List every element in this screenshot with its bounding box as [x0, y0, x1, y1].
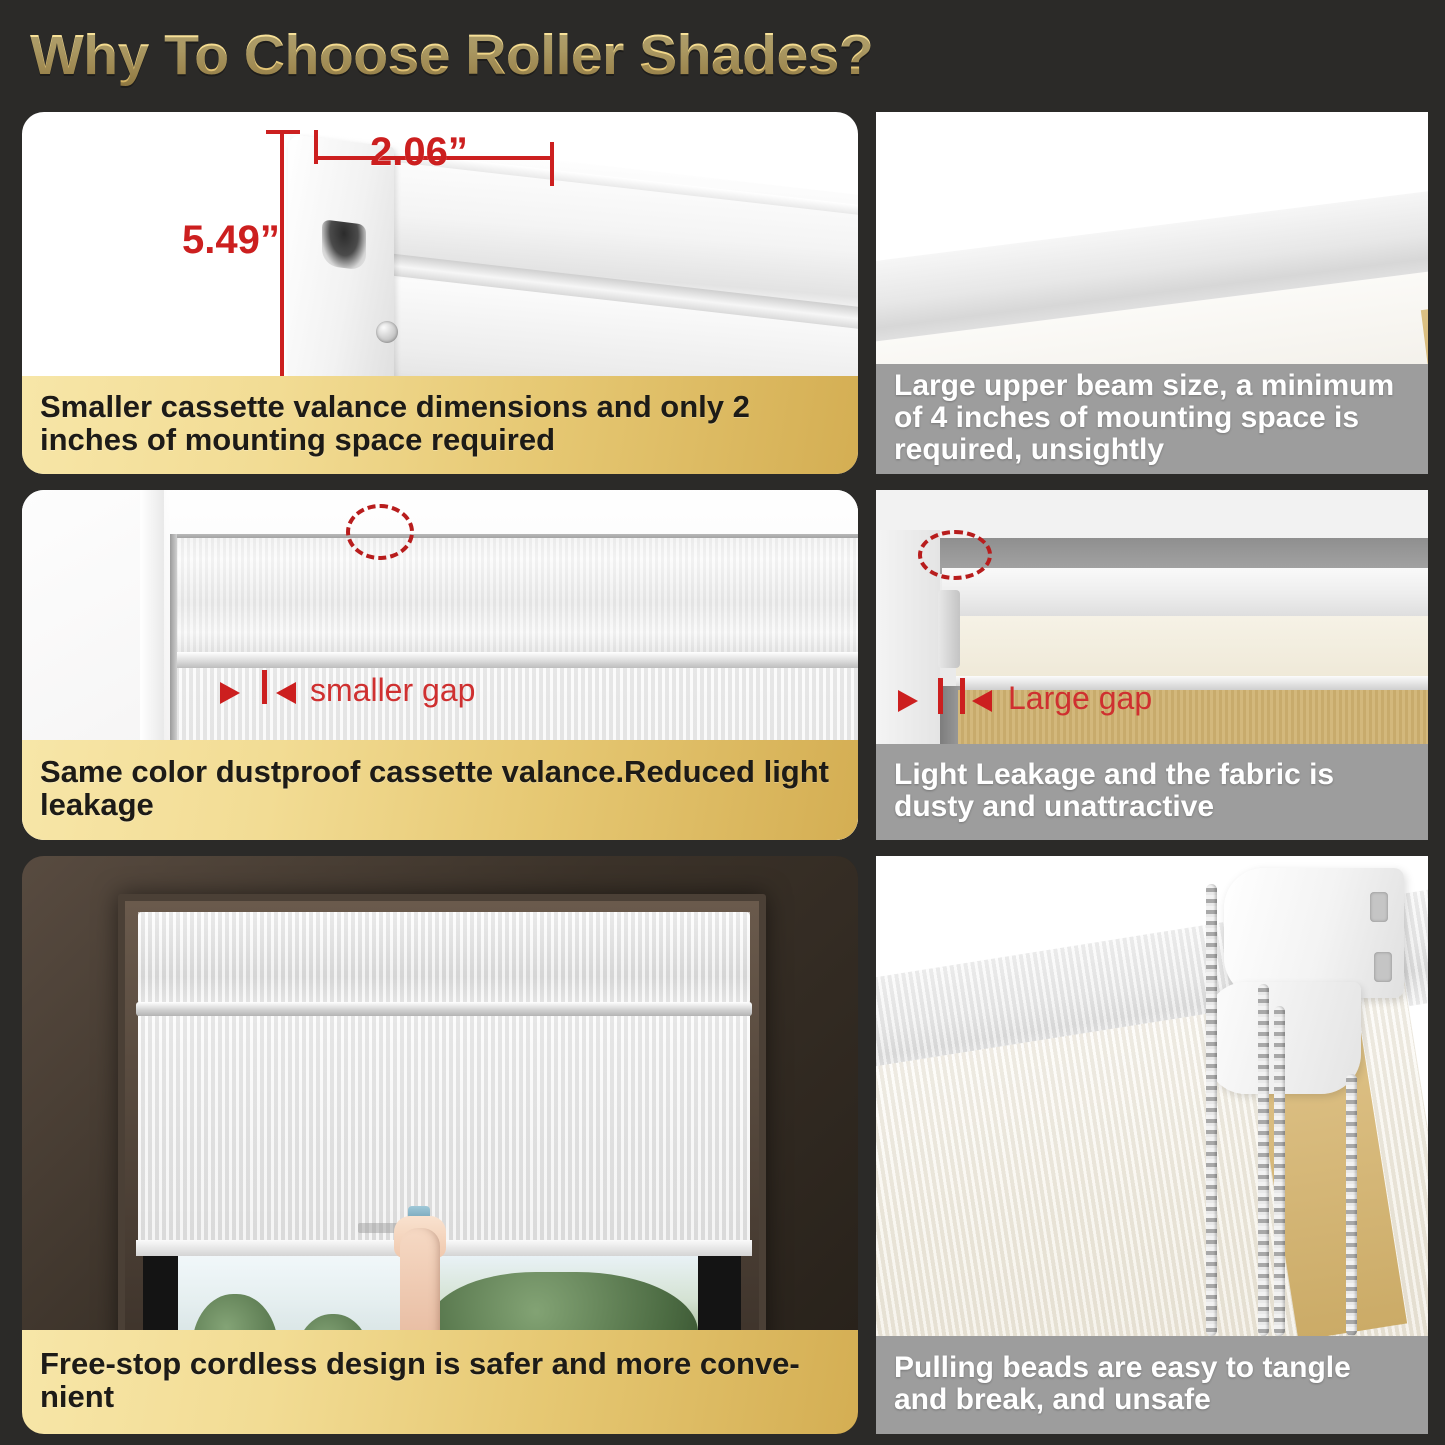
bead-chain-left — [1206, 884, 1217, 1336]
bracket-notch-lower — [1374, 952, 1392, 982]
large-gap-label: Large gap — [1008, 680, 1152, 717]
width-dim-tick-left — [314, 130, 318, 164]
gap-arrow-right — [972, 690, 992, 712]
panel-light-leakage[interactable]: Large gap Light Leakage and the fabric i… — [876, 490, 1428, 840]
panel-cordless-design[interactable]: Free-stop cordless design is safer and m… — [22, 856, 858, 1434]
gap-marker-line-b — [960, 678, 965, 714]
shade-headrail-shape — [138, 912, 750, 1004]
endcap-slot-shape — [322, 219, 366, 270]
bead-chain-middle — [1258, 984, 1269, 1336]
competitor-mount-clip — [938, 590, 960, 668]
headrail-texture — [138, 912, 750, 1004]
bead-chain-right — [1346, 1074, 1357, 1336]
width-dim-tick-right — [550, 142, 554, 186]
panel-caption-smaller-cassette: Smaller cassette valance dimensions and … — [22, 376, 858, 474]
valance-endcap-shape — [288, 134, 394, 417]
cassette-valance-shape — [172, 538, 858, 656]
panel-caption-large-upper-beam: Large upper beam size, a minimum of 4 in… — [876, 364, 1428, 474]
gap-highlight-circle — [346, 504, 414, 560]
panel-grid: 2.06” 5.49” Smaller cassette valance dim… — [0, 112, 1445, 1445]
height-dim-tick-top — [266, 130, 300, 134]
panel-large-upper-beam[interactable]: 4.00” 4.00” Large upper beam size, a min… — [876, 112, 1428, 474]
height-dimension-label: 5.49” — [182, 218, 280, 263]
page-title: Why To Choose Roller Shades? — [30, 22, 873, 88]
cassette-bottom-rail — [172, 652, 858, 668]
gap-arrow-left — [898, 690, 918, 712]
shade-fabric-shape — [138, 1016, 750, 1246]
panel-dustproof-valance[interactable]: smaller gap Same color dustproof cassett… — [22, 490, 858, 840]
panel-caption-pulling-beads: Pulling beads are easy to tangle and bre… — [876, 1336, 1428, 1434]
shade-fabric-texture — [138, 1016, 750, 1246]
infographic-page: Why To Choose Roller Shades? 2.06” 5.49” — [0, 0, 1445, 1445]
competitor-cream-band — [956, 616, 1428, 678]
bracket-notch-upper — [1370, 892, 1388, 922]
gap-marker-line-a — [938, 678, 943, 714]
bead-chain-inner — [1274, 1006, 1285, 1336]
panel-caption-cordless-design: Free-stop cordless design is safer and m… — [22, 1330, 858, 1434]
gap-highlight-circle — [918, 530, 992, 580]
panel-caption-dustproof-valance: Same color dustproof cassette valance.Re… — [22, 740, 858, 840]
gap-arrow-left — [220, 682, 240, 704]
cassette-texture — [172, 538, 858, 656]
endcap-screw-upper — [376, 321, 398, 343]
gap-arrow-right — [276, 682, 296, 704]
panel-smaller-cassette[interactable]: 2.06” 5.49” Smaller cassette valance dim… — [22, 112, 858, 474]
gap-marker-line — [262, 670, 267, 704]
panel-pulling-beads[interactable]: Pulling beads are easy to tangle and bre… — [876, 856, 1428, 1434]
panel-caption-light-leakage: Light Leakage and the fabric is dusty an… — [876, 744, 1428, 840]
shade-midrail-shape — [136, 1002, 752, 1016]
width-dimension-label: 2.06” — [370, 130, 468, 175]
smaller-gap-label: smaller gap — [310, 672, 475, 709]
